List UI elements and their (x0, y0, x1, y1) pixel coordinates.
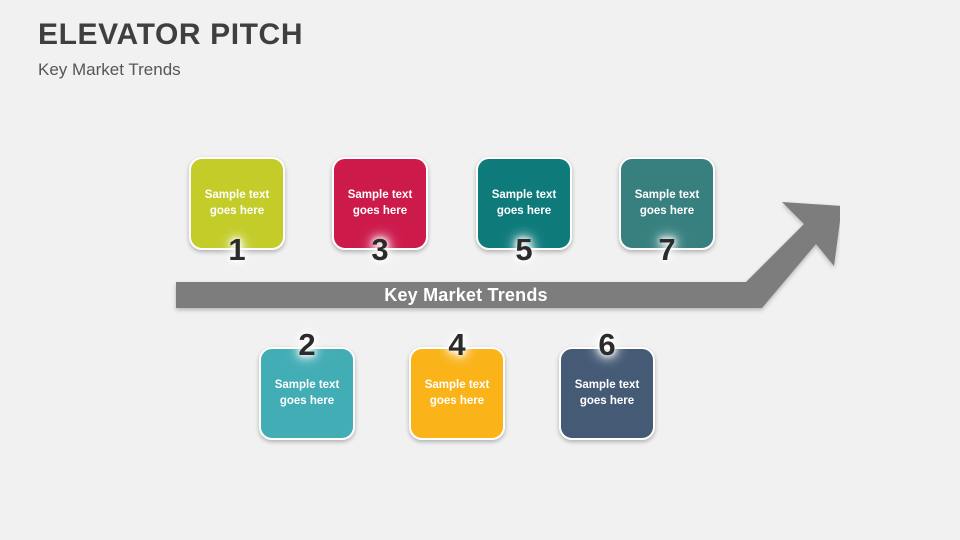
step-box-6[interactable]: Sample text goes here (559, 347, 655, 440)
page-subtitle: Key Market Trends (38, 61, 638, 80)
step-text-1: Sample text goes here (195, 188, 279, 218)
step-box-2[interactable]: Sample text goes here (259, 347, 355, 440)
banner-label: Key Market Trends (176, 282, 756, 308)
step-text-6: Sample text goes here (565, 378, 649, 408)
slide-canvas: ELEVATOR PITCH Key Market Trends Key Mar… (0, 0, 960, 540)
step-box-5[interactable]: Sample text goes here (476, 157, 572, 250)
step-text-2: Sample text goes here (265, 378, 349, 408)
step-text-3: Sample text goes here (338, 188, 422, 218)
page-title: ELEVATOR PITCH (38, 18, 638, 51)
step-text-7: Sample text goes here (625, 188, 709, 218)
step-box-4[interactable]: Sample text goes here (409, 347, 505, 440)
step-box-7[interactable]: Sample text goes here (619, 157, 715, 250)
step-box-3[interactable]: Sample text goes here (332, 157, 428, 250)
step-text-5: Sample text goes here (482, 188, 566, 218)
slide-header: ELEVATOR PITCH Key Market Trends (38, 18, 638, 80)
step-text-4: Sample text goes here (415, 378, 499, 408)
step-box-1[interactable]: Sample text goes here (189, 157, 285, 250)
